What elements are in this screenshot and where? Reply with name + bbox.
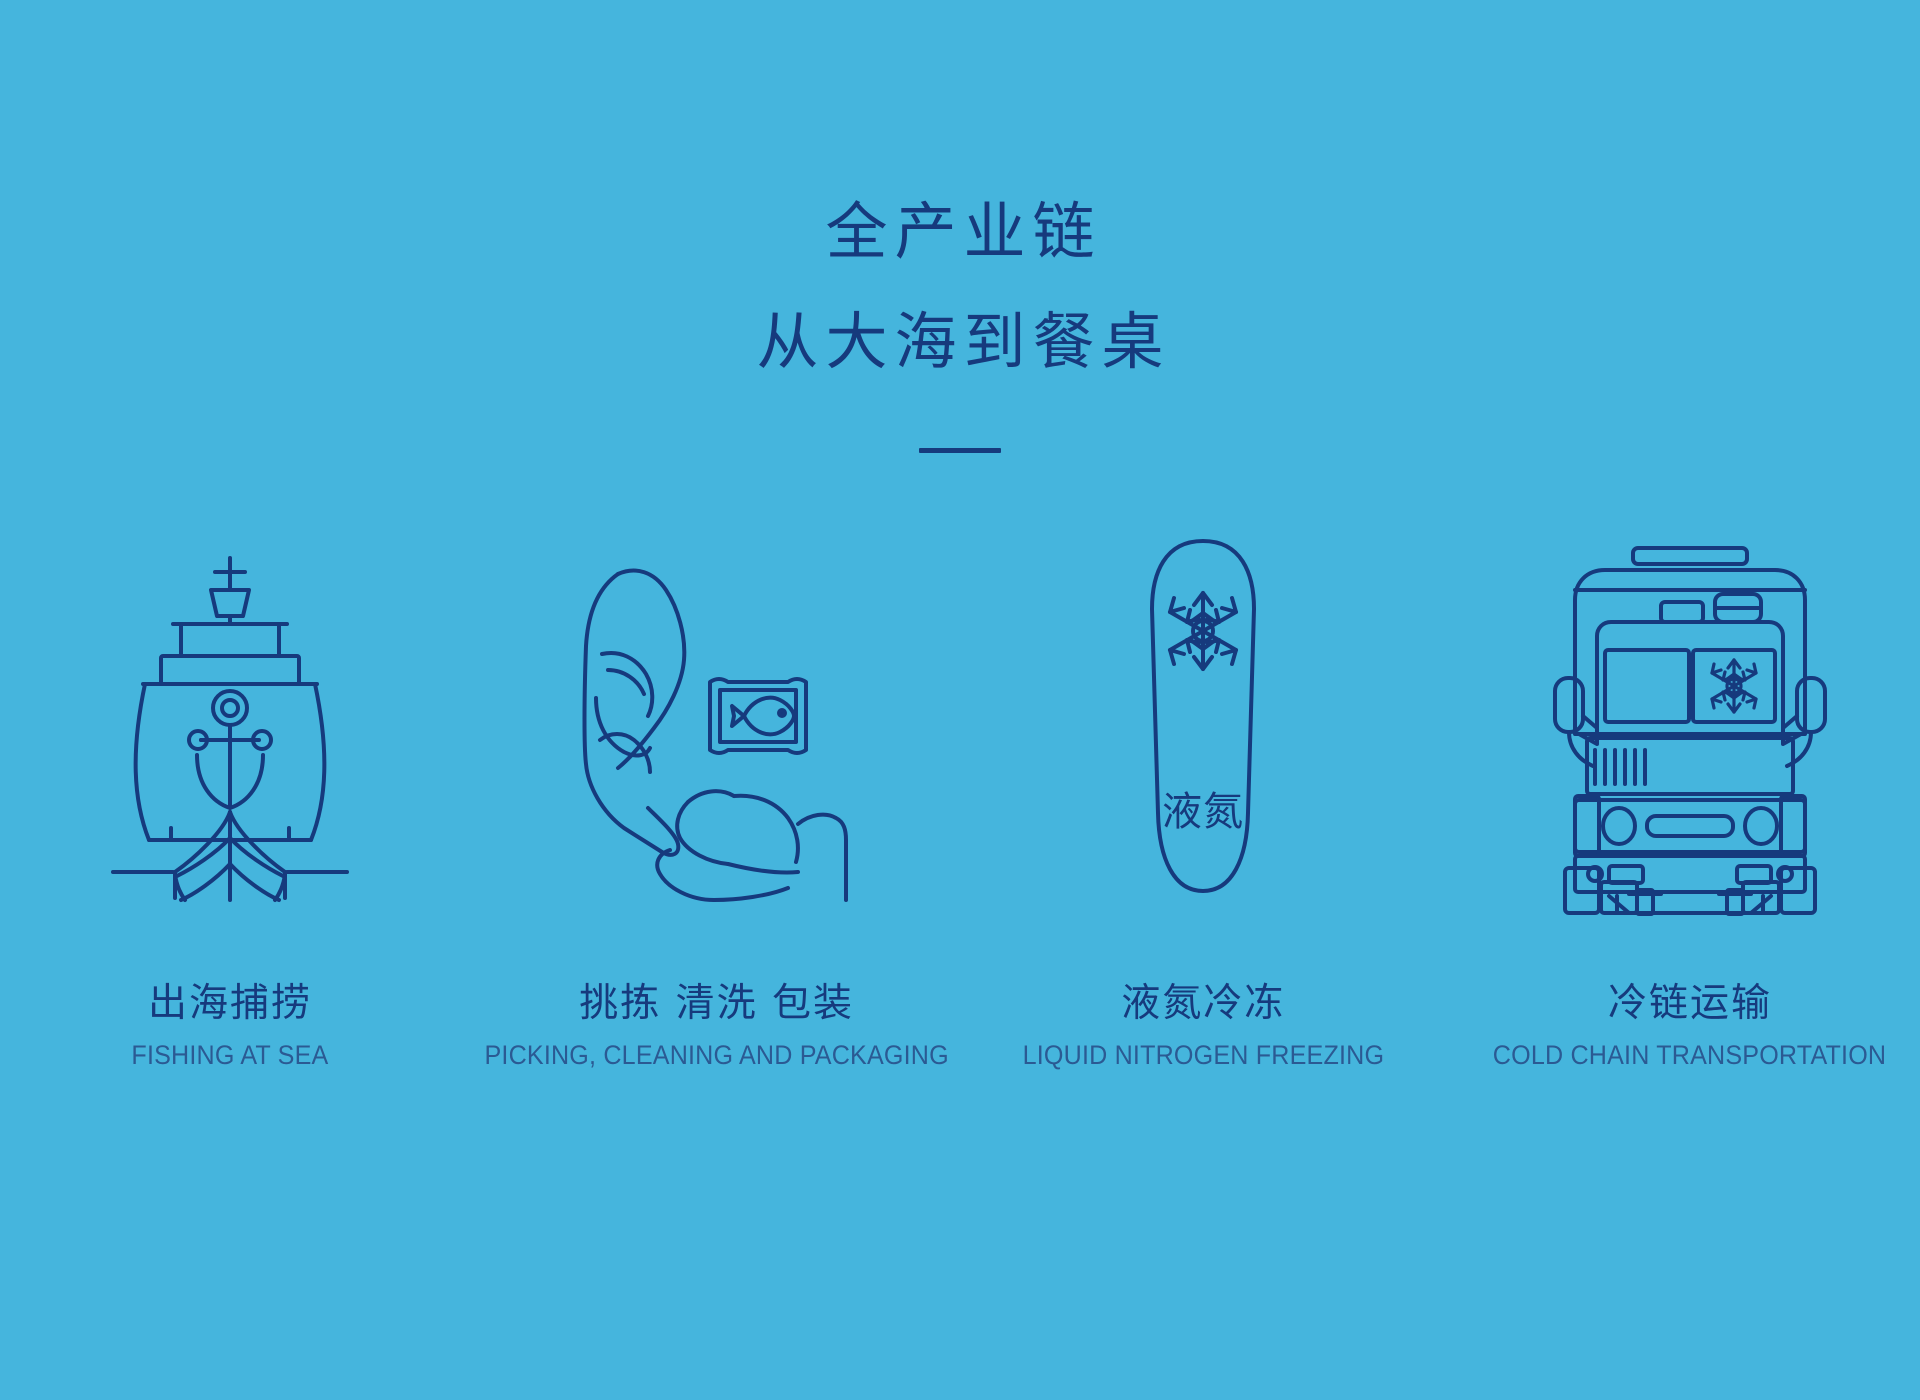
step-fishing-at-sea[interactable]: 出海捕捞 FISHING AT SEA xyxy=(0,530,470,1072)
headline-line-1: 全产业链 xyxy=(0,178,1920,286)
step-label-cn: 挑拣 清洗 包装 xyxy=(579,980,854,1028)
title-divider-rule xyxy=(919,448,1001,453)
hands-fish-package-icon-container xyxy=(477,530,957,920)
refrigerated-truck-icon-container xyxy=(1450,530,1920,920)
snowflake-icon xyxy=(1170,593,1236,669)
step-liquid-nitrogen-freezing[interactable]: 液氮 液氮冷冻 LIQUID NITROGEN FREEZING xyxy=(963,530,1443,1072)
step-label-en: FISHING AT SEA xyxy=(131,1038,328,1072)
liquid-nitrogen-droplet-icon: 液氮 xyxy=(1128,535,1278,915)
step-label-en: PICKING, CLEANING AND PACKAGING xyxy=(484,1038,948,1072)
step-label-en: LIQUID NITROGEN FREEZING xyxy=(1022,1038,1384,1072)
headline-line-2: 从大海到餐桌 xyxy=(0,288,1920,396)
divider-container xyxy=(0,440,1920,460)
process-steps: 出海捕捞 FISHING AT SEA xyxy=(0,530,1920,1072)
liquid-nitrogen-droplet-icon-container: 液氮 xyxy=(963,530,1443,920)
hands-fish-package-icon xyxy=(562,550,872,900)
step-label-en: COLD CHAIN TRANSPORTATION xyxy=(1493,1038,1886,1072)
droplet-inner-label: 液氮 xyxy=(1162,789,1244,835)
snowflake-icon xyxy=(1712,660,1756,712)
step-label-cn: 冷链运输 xyxy=(1608,980,1772,1028)
fishing-boat-icon-container xyxy=(0,530,470,920)
step-label-cn: 出海捕捞 xyxy=(148,980,312,1028)
fishing-boat-icon xyxy=(105,550,355,900)
page-header: 全产业链 从大海到餐桌 xyxy=(0,0,1920,460)
step-label-cn: 液氮冷冻 xyxy=(1121,980,1285,1028)
infographic-page: 全产业链 从大海到餐桌 xyxy=(0,0,1920,1400)
step-cold-chain-transportation[interactable]: 冷链运输 COLD CHAIN TRANSPORTATION xyxy=(1450,530,1920,1072)
step-picking-cleaning-packaging[interactable]: 挑拣 清洗 包装 PICKING, CLEANING AND PACKAGING xyxy=(477,530,957,1072)
refrigerated-truck-icon xyxy=(1545,538,1835,913)
